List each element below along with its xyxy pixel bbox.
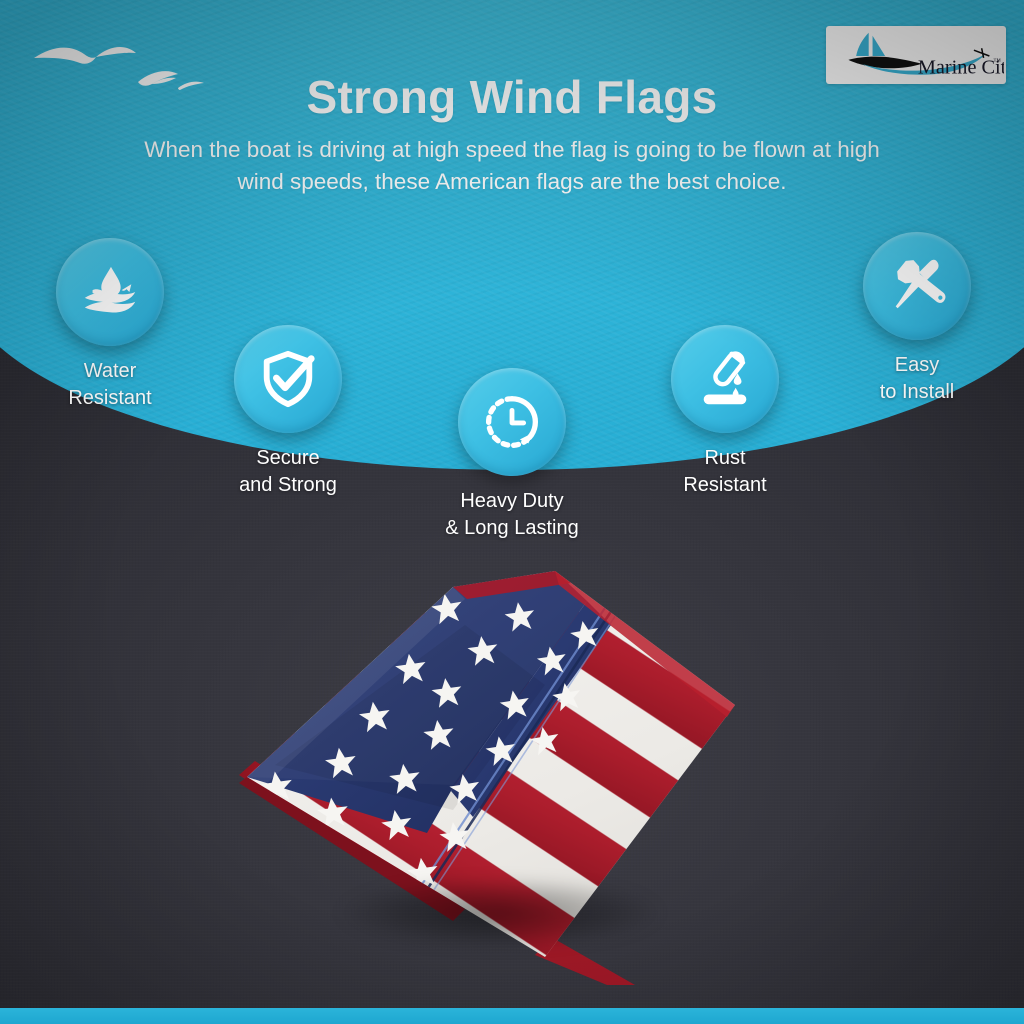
shield-check-icon <box>257 348 319 410</box>
product-shadow <box>285 865 715 961</box>
page-subtitle: When the boat is driving at high speed t… <box>140 134 884 198</box>
page-title: Strong Wind Flags <box>0 70 1024 124</box>
feature-label: Heavy Duty & Long Lasting <box>427 488 597 541</box>
feature-easy-to-install[interactable]: Easy to Install <box>832 232 1002 405</box>
clock-history-icon <box>481 391 543 453</box>
feature-label: Easy to Install <box>832 352 1002 405</box>
svg-text:™: ™ <box>993 57 1001 66</box>
test-tube-drip-icon <box>694 348 756 410</box>
feature-icon-circle <box>234 325 342 433</box>
feature-icon-circle <box>458 368 566 476</box>
infographic-canvas: Marine City ™ Strong Wind Flags When the… <box>0 0 1024 1024</box>
feature-icon-circle <box>863 232 971 340</box>
wrench-screwdriver-icon <box>886 255 948 317</box>
water-droplet-layers-icon <box>79 261 141 323</box>
feature-icon-circle <box>56 238 164 346</box>
feature-label: Water Resistant <box>25 358 195 411</box>
feature-heavy-duty[interactable]: Heavy Duty & Long Lasting <box>427 368 597 541</box>
feature-water-resistant[interactable]: Water Resistant <box>25 238 195 411</box>
bottom-accent-bar <box>0 1008 1024 1024</box>
feature-icon-circle <box>671 325 779 433</box>
product-image-folded-american-flag <box>215 565 775 985</box>
feature-rust-resistant[interactable]: Rust Resistant <box>640 325 810 498</box>
feature-label: Rust Resistant <box>640 445 810 498</box>
feature-secure-and-strong[interactable]: Secure and Strong <box>203 325 373 498</box>
feature-label: Secure and Strong <box>203 445 373 498</box>
